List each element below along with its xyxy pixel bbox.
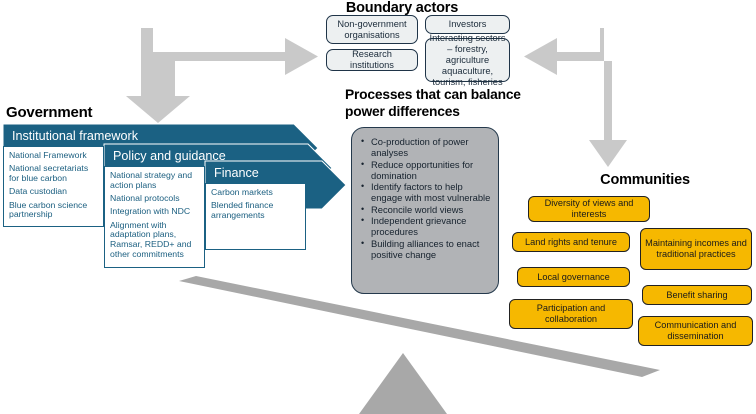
community-box-participation-and-collaboration[interactable]: Participation and collaboration: [509, 299, 633, 329]
panel-item: National strategy and action plans: [110, 171, 200, 191]
boundary-box-research-institutions[interactable]: Research institutions: [326, 49, 418, 71]
boundary-box-non-government-organisations[interactable]: Non-government organisations: [326, 15, 418, 44]
government-panel-institutional-framework: National Framework National secretariats…: [3, 146, 104, 227]
government-panel-policy-and-guidance: National strategy and action plans Natio…: [104, 166, 205, 268]
boundary-actors-heading: Boundary actors: [312, 0, 492, 16]
panel-item: Blue carbon science partnership: [9, 201, 99, 221]
process-bullet: Independent grievance procedures: [370, 215, 492, 238]
community-box-diversity-of-views-and-interests[interactable]: Diversity of views and interests: [528, 196, 650, 222]
diagram-canvas: Boundary actors Government Processes tha…: [0, 0, 756, 414]
left-elbow-arrow-icon: [126, 28, 318, 123]
government-panel-finance: Carbon markets Blended finance arrangeme…: [205, 183, 306, 250]
process-bullet: Reconcile world views: [370, 204, 492, 215]
processes-heading: Processes that can balance power differe…: [345, 87, 550, 120]
panel-item: Blended finance arrangements: [211, 201, 301, 221]
chevron-label-policy-and-guidance: Policy and guidance: [113, 149, 226, 163]
process-bullet: Identify factors to help engage with mos…: [370, 181, 492, 204]
boundary-box-investors[interactable]: Investors: [425, 15, 510, 34]
chevron-label-institutional-framework: Institutional framework: [12, 129, 138, 143]
chevron-label-finance: Finance: [214, 166, 259, 180]
panel-item: Carbon markets: [211, 188, 301, 198]
community-box-maintaining-incomes-and-traditional-practices[interactable]: Maintaining incomes and traditional prac…: [640, 228, 752, 270]
seesaw-fulcrum: [359, 353, 447, 414]
process-bullet: Reduce opportunities for domination: [370, 159, 492, 182]
panel-item: Alignment with adaptation plans, Ramsar,…: [110, 221, 200, 260]
panel-item: National secretariats for blue carbon: [9, 164, 99, 184]
community-box-communication-and-dissemination[interactable]: Communication and dissemination: [638, 316, 753, 346]
community-box-local-governance[interactable]: Local governance: [517, 267, 630, 287]
process-bullet: Building alliances to enact positive cha…: [370, 238, 492, 261]
panel-item: National protocols: [110, 194, 200, 204]
communities-heading: Communities: [560, 172, 730, 188]
processes-box: Co-production of power analyses Reduce o…: [351, 127, 499, 294]
panel-item: Data custodian: [9, 187, 99, 197]
processes-bullet-list: Co-production of power analyses Reduce o…: [357, 136, 492, 260]
government-heading: Government: [6, 104, 92, 121]
panel-item: Integration with NDC: [110, 207, 200, 217]
community-box-land-rights-and-tenure[interactable]: Land rights and tenure: [512, 232, 630, 252]
boundary-box-interacting-sectors[interactable]: Interacting sectors – forestry, agricult…: [425, 38, 510, 82]
process-bullet: Co-production of power analyses: [370, 136, 492, 159]
panel-item: National Framework: [9, 151, 99, 161]
community-box-benefit-sharing[interactable]: Benefit sharing: [642, 285, 752, 305]
